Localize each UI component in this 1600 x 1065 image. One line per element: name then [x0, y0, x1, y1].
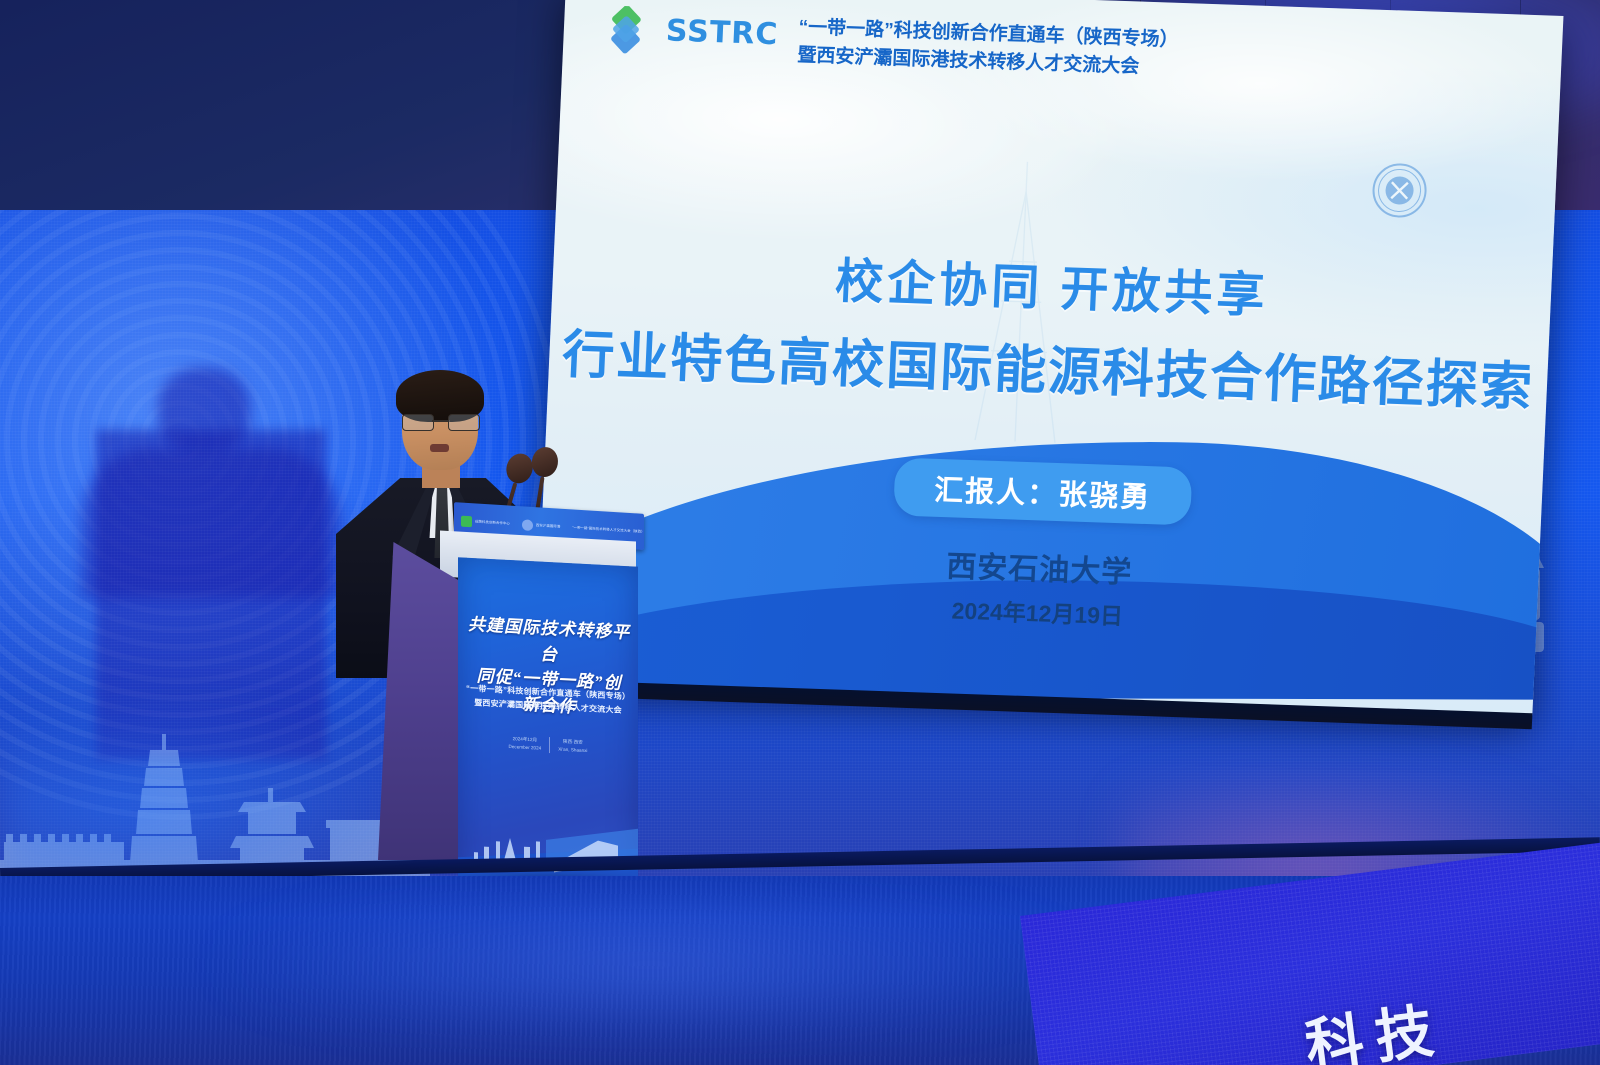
podium-meta-place-en: Xi'an, Shaanxi — [558, 745, 587, 754]
podium-logo-mark-0 — [461, 515, 472, 527]
podium-front-panel: 共建国际技术转移平台 同促“一带一路”创新合作 “一带一路”科技创新合作直通车（… — [458, 557, 638, 888]
podium-logo-mark-1 — [522, 519, 533, 531]
presenter-badge: 汇报人：张骁勇 — [893, 457, 1192, 525]
podium-logo-chip-2: “一带一路”国际技术转移人才交流大会（陕西）专场 — [572, 525, 644, 534]
podium-meta: 2024年12月 December 2024 陕西·西安 Xi'an, Shaa… — [466, 733, 630, 757]
podium-meta-divider — [549, 737, 550, 753]
slide-header: SSTRC “一带一路”科技创新合作直通车（陕西专场） 暨西安浐灞国际港技术转移… — [598, 3, 1179, 82]
podium-calligraphy-line-1: 共建国际技术转移平台 — [468, 612, 630, 671]
podium-logo-chip-1: 西安浐灞国际港 — [522, 519, 560, 532]
slide-title-block: 校企协同 开放共享 行业特色高校国际能源科技合作路径探索 — [548, 232, 1552, 421]
podium-logo-text-0: 丝路科技创新合作中心 — [475, 519, 510, 525]
projection-screen: SSTRC “一带一路”科技创新合作直通车（陕西专场） 暨西安浐灞国际港技术转移… — [535, 0, 1564, 715]
sstrc-diamond-logo-icon — [599, 5, 653, 59]
sstrc-wordmark: SSTRC — [665, 13, 779, 52]
speaker-glasses-icon — [402, 414, 480, 430]
stage-floor-glow — [200, 890, 1100, 1040]
podium-meta-date-en: December 2024 — [509, 743, 542, 753]
podium-logo-chip-0: 丝路科技创新合作中心 — [461, 515, 510, 529]
conference-stage-photo: SSTRC “一带一路”科技创新合作直通车（陕西专场） 暨西安浐灞国际港技术转移… — [0, 0, 1600, 1065]
speaker-mouth — [430, 444, 449, 452]
xian-shiyou-university-emblem-icon — [1370, 162, 1428, 220]
podium-side-panel — [378, 542, 464, 860]
speaking-podium: 丝路科技创新合作中心 西安浐灞国际港 “一带一路”国际技术转移人才交流大会（陕西… — [378, 500, 648, 885]
podium-logo-text-2: “一带一路”国际技术转移人才交流大会（陕西）专场 — [572, 525, 644, 534]
podium-logo-text-1: 西安浐灞国际港 — [536, 523, 560, 529]
